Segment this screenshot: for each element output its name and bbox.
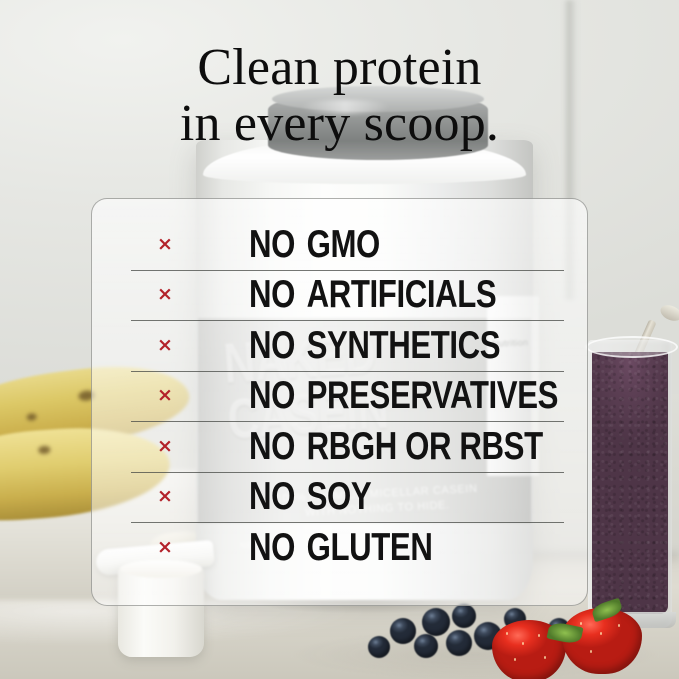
close-x-icon: × [155, 437, 175, 456]
product-marketing-image: NAKED CASEIN 100% PREMIUM MICELLAR CASEI… [0, 0, 679, 679]
claim-row-divider [131, 421, 564, 422]
claim-row-divider [131, 522, 564, 523]
page-headline: Clean protein in every scoop. [0, 40, 679, 152]
strawberry-seed [538, 634, 540, 637]
smoothie-texture [592, 352, 668, 614]
claim-term: GMO [307, 225, 380, 264]
claim-prefix: NO [249, 528, 307, 567]
smoothie-glass-rim [586, 336, 678, 358]
claim-term: SYNTHETICS [307, 326, 501, 365]
close-x-icon: × [155, 538, 175, 557]
strawberry-seed [618, 624, 620, 627]
claim-row: ×NORBGH OR RBST [92, 421, 587, 472]
claim-text: NOARTIFICIALS [249, 275, 496, 314]
claim-row: ×NOGLUTEN [92, 522, 587, 573]
blueberry [368, 636, 390, 658]
claim-row: ×NOARTIFICIALS [92, 270, 587, 321]
strawberry-seed [580, 622, 582, 625]
claim-text: NOGLUTEN [249, 528, 432, 567]
close-x-icon: × [155, 285, 175, 304]
claim-term: SOY [307, 477, 372, 516]
blueberry [414, 634, 438, 658]
claim-text: NORBGH OR RBST [249, 427, 543, 466]
blueberry [452, 604, 476, 628]
banana-spot [38, 446, 51, 455]
claim-row-divider [131, 270, 564, 271]
claim-prefix: NO [249, 427, 307, 466]
banana-spot [26, 413, 37, 421]
blueberry [422, 608, 450, 636]
strawberry-seed [506, 632, 508, 635]
close-x-icon: × [155, 487, 175, 506]
strawberry-seed [590, 650, 592, 653]
strawberry-seed [514, 658, 516, 661]
claim-text: NOSOY [249, 477, 371, 516]
strawberry-seed [544, 656, 546, 659]
claims-list: ×NOGMO×NOARTIFICIALS×NOSYNTHETICS×NOPRES… [92, 199, 587, 605]
claims-card: ×NOGMO×NOARTIFICIALS×NOSYNTHETICS×NOPRES… [91, 198, 588, 606]
blueberry [390, 618, 416, 644]
claim-prefix: NO [249, 275, 307, 314]
claim-prefix: NO [249, 477, 307, 516]
claim-row: ×NOSOY [92, 472, 587, 523]
claim-term: PRESERVATIVES [307, 376, 558, 415]
claim-prefix: NO [249, 376, 307, 415]
claim-row: ×NOGMO [92, 219, 587, 270]
strawberry-seed [600, 632, 602, 635]
claim-row-divider [131, 371, 564, 372]
claim-term: RBGH OR RBST [307, 427, 543, 466]
close-x-icon: × [155, 336, 175, 355]
claim-term: GLUTEN [307, 528, 433, 567]
claim-row: ×NOPRESERVATIVES [92, 371, 587, 422]
claim-prefix: NO [249, 326, 307, 365]
claim-row-divider [131, 472, 564, 473]
close-x-icon: × [155, 235, 175, 254]
strawberry-seed [522, 642, 524, 645]
close-x-icon: × [155, 386, 175, 405]
claim-prefix: NO [249, 225, 307, 264]
claim-row-divider [131, 320, 564, 321]
claim-text: NOGMO [249, 225, 380, 264]
claim-text: NOPRESERVATIVES [249, 376, 558, 415]
claim-row: ×NOSYNTHETICS [92, 320, 587, 371]
claim-text: NOSYNTHETICS [249, 326, 500, 365]
blueberry [446, 630, 472, 656]
claim-term: ARTIFICIALS [307, 275, 497, 314]
